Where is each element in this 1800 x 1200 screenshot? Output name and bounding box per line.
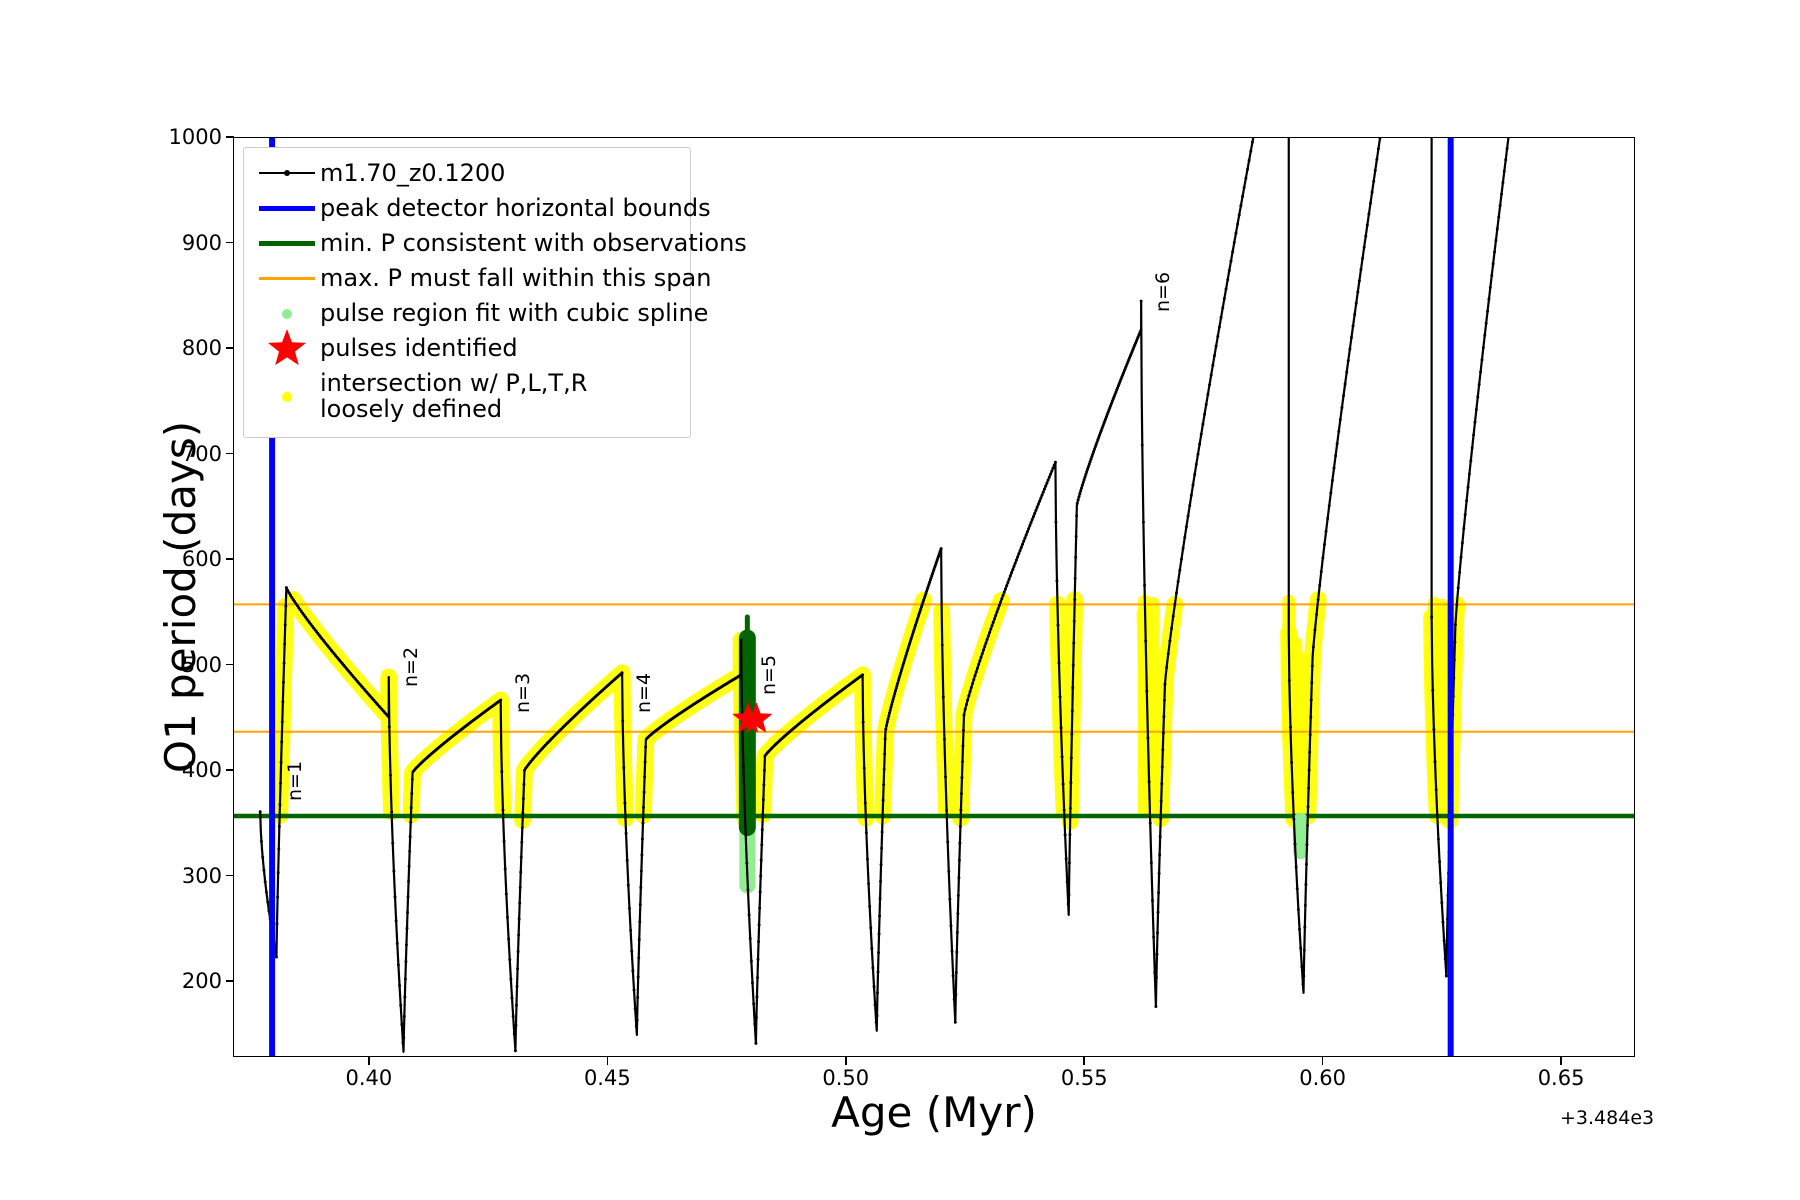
track-marker-dot: [503, 840, 506, 843]
dot-swatch: [282, 392, 292, 402]
track-marker-dot: [1307, 787, 1310, 790]
track-marker-dot: [1060, 726, 1063, 729]
track-marker-dot: [1156, 931, 1159, 934]
track-marker-dot: [401, 1041, 404, 1044]
track-marker-dot: [1325, 530, 1328, 533]
track-marker-dot: [977, 663, 980, 666]
track-marker-dot: [988, 631, 991, 634]
y-axis-label: O1 period (days): [150, 137, 210, 1057]
track-marker-dot: [873, 985, 876, 988]
track-marker-dot: [1309, 733, 1312, 736]
track-marker-dot: [1039, 497, 1042, 500]
track-marker-dot: [1473, 421, 1476, 424]
track-marker-dot: [1195, 463, 1198, 466]
track-marker-dot: [980, 656, 983, 659]
track-marker-dot: [1163, 699, 1166, 702]
track-marker-dot: [1066, 880, 1069, 883]
line-marker-icon: [254, 157, 320, 191]
track-marker-dot: [1489, 286, 1492, 289]
track-marker-dot: [1187, 515, 1190, 518]
track-marker-dot: [1310, 698, 1313, 701]
track-marker-dot: [1344, 382, 1347, 385]
track-marker-dot: [1221, 306, 1224, 309]
track-marker-dot: [408, 865, 411, 868]
track-marker-dot: [1441, 921, 1444, 924]
track-marker-dot: [1289, 726, 1292, 729]
track-marker-dot: [952, 974, 955, 977]
track-marker-dot: [1203, 413, 1206, 416]
track-marker-dot: [1228, 269, 1231, 272]
track-marker-dot: [1172, 615, 1175, 618]
track-marker-dot: [1437, 838, 1440, 841]
track-marker-dot: [403, 1015, 406, 1018]
track-marker-dot: [965, 703, 968, 706]
track-marker-dot: [638, 920, 641, 923]
track-marker-dot: [756, 976, 759, 979]
track-marker-dot: [1017, 552, 1020, 555]
legend[interactable]: m1.70_z0.1200peak detector horizontal bo…: [243, 147, 691, 438]
track-marker-dot: [1248, 159, 1251, 162]
track-marker-dot: [407, 880, 410, 883]
track-marker-dot: [876, 1014, 879, 1017]
track-marker-dot: [511, 997, 514, 1000]
track-marker-dot: [948, 898, 951, 901]
track-marker-dot: [408, 850, 411, 853]
track-marker-dot: [972, 678, 975, 681]
track-marker-dot: [1069, 807, 1072, 810]
track-marker-dot: [740, 639, 743, 642]
track-marker-dot: [1225, 288, 1228, 291]
curve-annotation-n2: n=2: [400, 647, 422, 687]
intersection-highlight: [763, 675, 866, 818]
track-marker-dot: [398, 984, 401, 987]
track-marker-dot: [1367, 213, 1370, 216]
track-marker-dot: [388, 725, 391, 728]
track-marker-dot: [639, 886, 642, 889]
track-marker-dot: [644, 760, 647, 763]
track-marker-dot: [1188, 504, 1191, 507]
track-marker-dot: [411, 778, 414, 781]
track-marker-dot: [1032, 515, 1035, 518]
track-marker-dot: [1363, 246, 1366, 249]
dot-marker-icon: [254, 297, 320, 331]
track-marker-dot: [942, 696, 945, 699]
track-marker-dot: [1465, 499, 1468, 502]
track-marker-dot: [1297, 908, 1300, 911]
track-marker-dot: [753, 1022, 756, 1025]
track-marker-dot: [1020, 546, 1023, 549]
track-marker-dot: [760, 843, 763, 846]
track-marker-dot: [889, 709, 892, 712]
track-marker-dot: [278, 803, 281, 806]
track-marker-dot: [1482, 346, 1485, 349]
star-marker-icon: [254, 332, 320, 366]
track-marker-dot: [635, 1025, 638, 1028]
track-marker-dot: [1064, 833, 1067, 836]
track-marker-dot: [1220, 316, 1223, 319]
track-marker-dot: [1468, 473, 1471, 476]
x-tick-mark: [607, 1057, 609, 1065]
track-marker-dot: [1504, 158, 1507, 161]
track-marker-dot: [1445, 974, 1448, 977]
track-marker-dot: [1143, 584, 1146, 587]
track-marker-dot: [1000, 597, 1003, 600]
track-marker-dot: [1160, 782, 1163, 785]
track-marker-dot: [1150, 861, 1153, 864]
track-marker-dot: [636, 996, 639, 999]
track-marker-dot: [1058, 661, 1061, 664]
track-marker-dot: [520, 856, 523, 859]
track-marker-dot: [521, 826, 524, 829]
y-tick-label: 200: [182, 969, 222, 993]
track-marker-dot: [758, 923, 761, 926]
track-marker-dot: [278, 825, 281, 828]
track-marker-dot: [275, 956, 278, 959]
legend-item-0[interactable]: m1.70_z0.1200: [254, 156, 680, 191]
x-axis-offset-label: +3.484e3: [1560, 1107, 1654, 1129]
track-marker-dot: [953, 998, 956, 1001]
track-marker-dot: [1374, 169, 1377, 172]
track-marker-dot: [628, 907, 631, 910]
track-marker-dot: [880, 863, 883, 866]
track-marker-dot: [1497, 216, 1500, 219]
curve-annotation-n6: n=6: [1152, 272, 1174, 312]
track-marker-dot: [880, 847, 883, 850]
track-marker-dot: [1472, 433, 1475, 436]
track-marker-dot: [266, 900, 269, 903]
x-tick-mark: [1083, 1057, 1085, 1065]
track-marker-dot: [893, 692, 896, 695]
track-marker-dot: [1049, 473, 1052, 476]
track-marker-dot: [1340, 406, 1343, 409]
track-marker-dot: [1467, 486, 1470, 489]
track-marker-dot: [1200, 433, 1203, 436]
track-marker-dot: [279, 782, 282, 785]
track-marker-dot: [1294, 843, 1297, 846]
track-marker-dot: [1162, 715, 1165, 718]
track-marker-dot: [1358, 279, 1361, 282]
track-marker-dot: [410, 792, 413, 795]
x-tick-label: 0.55: [1061, 1066, 1108, 1090]
track-marker-dot: [1246, 168, 1249, 171]
track-marker-dot: [1233, 241, 1236, 244]
track-marker-dot: [1084, 475, 1087, 478]
track-marker-dot: [982, 649, 985, 652]
track-marker-dot: [1062, 783, 1065, 786]
track-marker-dot: [973, 674, 976, 677]
track-marker-dot: [1211, 364, 1214, 367]
track-marker-dot: [1190, 494, 1193, 497]
track-marker-dot: [993, 617, 996, 620]
track-marker-dot: [1215, 345, 1218, 348]
intersection-highlight: [523, 673, 626, 820]
track-marker-dot: [962, 729, 965, 732]
track-marker-dot: [410, 806, 413, 809]
legend-label-line2: loosely defined: [320, 397, 587, 423]
track-marker-dot: [1371, 191, 1374, 194]
legend-item-label: m1.70_z0.1200: [320, 161, 505, 187]
track-marker-dot: [960, 776, 963, 779]
track-marker-dot: [1030, 521, 1033, 524]
track-marker-dot: [748, 913, 751, 916]
cubic-spline-fit-layer: [747, 617, 1300, 885]
track-marker-dot: [1321, 556, 1324, 559]
track-marker-dot: [285, 586, 288, 589]
track-marker-dot: [1167, 652, 1170, 655]
track-marker-dot: [1295, 866, 1298, 869]
track-marker-dot: [1208, 383, 1211, 386]
track-marker-dot: [1312, 646, 1315, 649]
legend-item-1[interactable]: peak detector horizontal bounds: [254, 191, 680, 226]
track-marker-dot: [1146, 736, 1149, 739]
track-marker-dot: [280, 761, 283, 764]
track-marker-dot: [1063, 809, 1066, 812]
track-marker-dot: [1241, 195, 1244, 198]
track-marker-dot: [1151, 899, 1154, 902]
track-marker-dot: [944, 775, 947, 778]
track-marker-dot: [1503, 170, 1506, 173]
track-marker-dot: [395, 919, 398, 922]
track-marker-dot: [1475, 408, 1478, 411]
track-marker-dot: [1486, 310, 1489, 313]
track-marker-dot: [757, 940, 760, 943]
track-marker-dot: [1336, 442, 1339, 445]
track-marker-dot: [1050, 470, 1053, 473]
track-marker-dot: [406, 911, 409, 914]
track-marker-dot: [1361, 257, 1364, 260]
track-marker-dot: [1303, 926, 1306, 929]
track-marker-dot: [638, 938, 641, 941]
track-marker-dot: [895, 684, 898, 687]
dot-marker-icon: [254, 380, 320, 414]
track-marker-dot: [1144, 639, 1147, 642]
track-marker-dot: [1148, 780, 1151, 783]
track-marker-dot: [1009, 575, 1012, 578]
track-marker-dot: [761, 813, 764, 816]
track-marker-dot: [954, 1021, 957, 1024]
line-swatch-icon: [254, 262, 320, 296]
track-marker-dot: [1218, 325, 1221, 328]
y-tick-label: 500: [182, 653, 222, 677]
track-marker-dot: [1055, 579, 1058, 582]
track-marker-dot: [1170, 627, 1173, 630]
track-marker-dot: [1036, 506, 1039, 509]
track-marker-dot: [1183, 536, 1186, 539]
track-marker-dot: [879, 897, 882, 900]
track-marker-dot: [1198, 443, 1201, 446]
track-marker-dot: [1443, 939, 1446, 942]
track-marker-dot: [1290, 761, 1293, 764]
track-marker-dot: [999, 601, 1002, 604]
track-marker-dot: [755, 1016, 758, 1019]
track-marker-dot: [1149, 822, 1152, 825]
track-marker-dot: [749, 937, 752, 940]
track-marker-dot: [958, 842, 961, 845]
track-marker-dot: [1003, 591, 1006, 594]
track-marker-dot: [284, 623, 287, 626]
track-marker-dot: [878, 932, 881, 935]
track-marker-dot: [1059, 695, 1062, 698]
track-marker-dot: [1065, 857, 1068, 860]
track-marker-dot: [630, 950, 633, 953]
track-marker-dot: [521, 811, 524, 814]
x-tick-mark: [1322, 1057, 1324, 1065]
track-marker-dot: [1162, 732, 1165, 735]
track-marker-dot: [744, 833, 747, 836]
track-marker-dot: [969, 690, 972, 693]
track-marker-dot: [951, 950, 954, 953]
track-marker-dot: [1082, 481, 1085, 484]
track-marker-dot: [407, 895, 410, 898]
track-marker-dot: [964, 708, 967, 711]
track-marker-dot: [1083, 478, 1086, 481]
track-marker-dot: [1037, 503, 1040, 506]
track-marker-dot: [1085, 470, 1088, 473]
track-marker-dot: [1292, 818, 1295, 821]
track-marker-dot: [1078, 492, 1081, 495]
line-swatch-icon: [254, 192, 320, 226]
track-marker-dot: [959, 808, 962, 811]
track-marker-dot: [957, 894, 960, 897]
track-marker-dot: [1231, 250, 1234, 253]
track-marker-dot: [986, 638, 989, 641]
track-marker-dot: [1163, 683, 1166, 686]
track-marker-dot: [405, 943, 408, 946]
track-marker-dot: [1069, 781, 1072, 784]
x-tick-label: 0.40: [346, 1066, 393, 1090]
track-marker-dot: [1168, 639, 1171, 642]
track-marker-dot: [1086, 468, 1089, 471]
track-marker-dot: [1025, 533, 1028, 536]
track-marker-dot: [1193, 473, 1196, 476]
track-marker-dot: [1042, 491, 1045, 494]
track-marker-dot: [888, 711, 891, 714]
track-marker-dot: [1047, 479, 1050, 482]
track-marker-dot: [625, 832, 628, 835]
legend-item-5[interactable]: pulses identified: [254, 331, 680, 366]
line-swatch: [259, 241, 315, 246]
track-marker-dot: [1460, 556, 1463, 559]
track-marker-dot: [867, 882, 870, 885]
track-marker-dot: [1142, 521, 1145, 524]
track-marker-dot: [1299, 947, 1302, 950]
track-marker-dot: [954, 993, 957, 996]
track-marker-dot: [1471, 446, 1474, 449]
track-marker-dot: [1067, 903, 1070, 906]
track-marker-dot: [1175, 591, 1178, 594]
track-marker-dot: [1478, 383, 1481, 386]
track-marker-dot: [1239, 204, 1242, 207]
track-marker-dot: [621, 719, 624, 722]
track-marker-dot: [866, 858, 869, 861]
track-marker-dot: [1045, 482, 1048, 485]
track-marker-dot: [1310, 681, 1313, 684]
track-marker-dot: [1002, 594, 1005, 597]
legend-item-6[interactable]: intersection w/ P,L,T,Rloosely defined: [254, 366, 680, 428]
track-marker-dot: [758, 907, 761, 910]
track-marker-dot: [743, 801, 746, 804]
track-marker-dot: [643, 791, 646, 794]
track-marker-dot: [1038, 500, 1041, 503]
track-marker-dot: [955, 950, 958, 953]
track-marker-dot: [1304, 883, 1307, 886]
legend-item-3[interactable]: max. P must fall within this span: [254, 261, 680, 296]
track-marker-dot: [264, 880, 267, 883]
track-marker-dot: [1178, 569, 1181, 572]
track-marker-dot: [1027, 527, 1030, 530]
track-marker-dot: [517, 950, 520, 953]
track-marker-dot: [1355, 302, 1358, 305]
track-marker-dot: [1073, 620, 1076, 623]
track-marker-dot: [1334, 454, 1337, 457]
track-marker-dot: [871, 966, 874, 969]
track-marker-dot: [884, 728, 887, 731]
track-marker-dot: [262, 869, 265, 872]
track-marker-dot: [1333, 467, 1336, 470]
track-marker-dot: [757, 958, 760, 961]
track-marker-dot: [1051, 467, 1054, 470]
track-marker-dot: [1054, 521, 1057, 524]
track-marker-dot: [499, 699, 502, 702]
track-marker-dot: [1234, 232, 1237, 235]
track-marker-dot: [1305, 843, 1308, 846]
track-marker-dot: [1244, 177, 1247, 180]
track-marker-dot: [751, 981, 754, 984]
x-tick-mark: [368, 1057, 370, 1065]
legend-item-label: pulses identified: [320, 336, 518, 362]
track-marker-dot: [760, 859, 763, 862]
legend-item-2[interactable]: min. P consistent with observations: [254, 226, 680, 261]
track-marker-dot: [883, 768, 886, 771]
track-marker-dot: [276, 922, 279, 925]
track-marker-dot: [633, 989, 636, 992]
track-marker-dot: [280, 740, 283, 743]
track-marker-dot: [1044, 485, 1047, 488]
track-marker-dot: [1313, 629, 1316, 632]
track-marker-dot: [975, 671, 978, 674]
track-marker-dot: [397, 963, 400, 966]
legend-label-line1: intersection w/ P,L,T,R: [320, 371, 587, 397]
track-marker-dot: [1185, 525, 1188, 528]
track-marker-dot: [1342, 394, 1345, 397]
track-marker-dot: [640, 853, 643, 856]
track-marker-dot: [516, 967, 519, 970]
legend-item-4[interactable]: pulse region fit with cubic spline: [254, 296, 680, 331]
star-glyph: [265, 327, 309, 371]
track-marker-dot: [892, 697, 895, 700]
track-marker-dot: [892, 695, 895, 698]
track-marker-dot: [875, 1021, 878, 1024]
y-tick-label: 1000: [169, 125, 222, 149]
track-marker-dot: [1453, 641, 1456, 644]
track-marker-dot: [898, 674, 901, 677]
track-marker-dot: [1078, 495, 1081, 498]
track-marker-dot: [997, 607, 1000, 610]
track-marker-dot: [1008, 578, 1011, 581]
track-marker-dot: [755, 995, 758, 998]
track-marker-dot: [1308, 751, 1311, 754]
track-marker-dot: [887, 714, 890, 717]
track-marker-dot: [1499, 204, 1502, 207]
track-marker-dot: [970, 686, 973, 689]
track-marker-dot: [515, 1004, 518, 1007]
track-marker-dot: [1302, 975, 1305, 978]
track-marker-dot: [1229, 260, 1232, 263]
track-marker-dot: [283, 642, 286, 645]
track-marker-dot: [1440, 901, 1443, 904]
track-marker-dot: [1444, 957, 1447, 960]
track-marker-dot: [1043, 488, 1046, 491]
